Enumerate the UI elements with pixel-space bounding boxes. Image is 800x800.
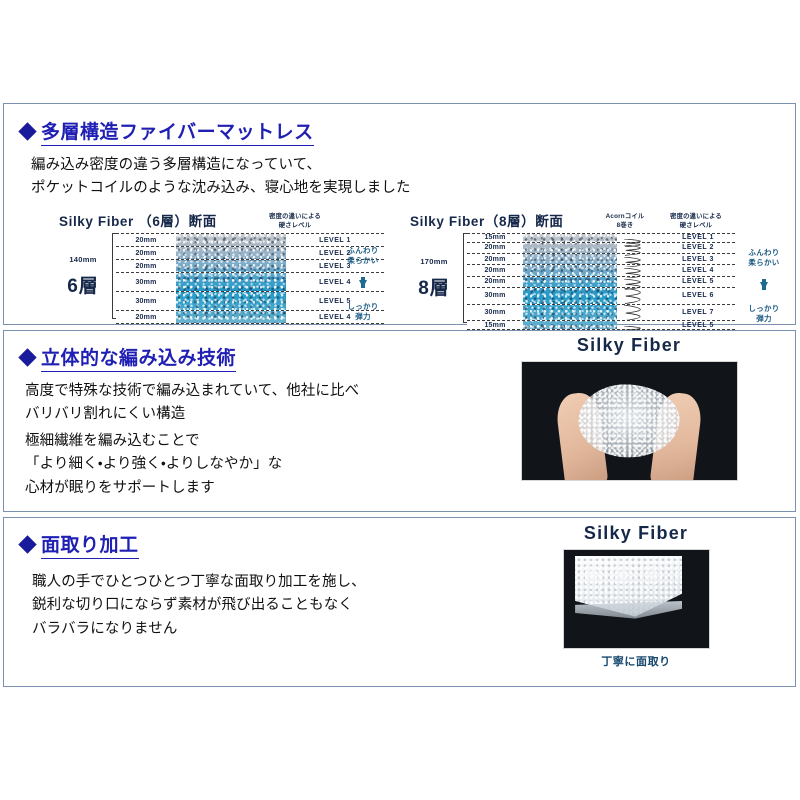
soft-firm-scale-eight: ふんわり 柔らかい しっかり 弾力 [741, 237, 787, 335]
layer-fiber-texture [176, 234, 286, 246]
layer-level-label: LEVEL 7 [661, 305, 735, 321]
layer-count-label-six: 6層 [57, 271, 109, 298]
total-thickness-six: 140mm 6層 [57, 255, 109, 298]
layer-level-label: LEVEL 3 [661, 254, 735, 264]
layer-row: 30mmLEVEL 7 [467, 305, 735, 322]
layer-fiber-texture [176, 247, 286, 259]
soft-label-six: ふんわり 柔らかい [340, 246, 386, 267]
layer-thickness-label: 30mm [467, 305, 523, 321]
layer-level-label: LEVEL 1 [661, 234, 735, 242]
layer-level-label: LEVEL 2 [661, 243, 735, 253]
photo-hands-holding-fiber [521, 361, 738, 481]
total-thickness-eight: 170mm 8層 [408, 257, 460, 300]
layer-fiber-texture [176, 260, 286, 272]
firm-label-six: しっかり 弾力 [340, 302, 386, 323]
layer-thickness-label: 30mm [116, 273, 176, 291]
total-mm-label-eight: 170mm [408, 257, 460, 266]
photo-caption-chamfer: 丁寧に面取り [501, 653, 771, 669]
total-mm-label-six: 140mm [57, 255, 109, 264]
layer-level-label: LEVEL 5 [661, 277, 735, 287]
section-body-multilayer: 編み込み密度の違う多層構造になっていて、 ポケットコイルのような沈み込み、寝心地… [31, 154, 411, 201]
layer-level-label: LEVEL 4 [661, 265, 735, 275]
section-panel-multilayer: 多層構造ファイバーマットレス 編み込み密度の違う多層構造になっていて、 ポケット… [3, 103, 796, 325]
layer-thickness-label: 30mm [467, 288, 523, 304]
layer-count-label-eight: 8層 [408, 273, 460, 300]
diamond-bullet-icon [18, 122, 36, 140]
layer-row: 15mmLEVEL 5 [467, 321, 735, 330]
section-heading-label: 多層構造ファイバーマットレス [41, 117, 314, 146]
layer-row: 20mmLEVEL 5 [467, 277, 735, 288]
layer-thickness-label: 15mm [467, 234, 523, 242]
layer-fiber-texture [523, 234, 617, 242]
layer-thickness-label: 20mm [116, 260, 176, 272]
column-header-density-six: 密度の違いによる 硬さレベル [257, 212, 333, 230]
layer-fiber-texture [176, 311, 286, 323]
down-arrow-icon [760, 282, 768, 290]
layer-fiber-texture [523, 305, 617, 321]
section-body-knitting-2: 極細繊維を編み込むことで 「より細く・より強く・よりしなやか」な 心材が眠りをサ… [25, 430, 282, 500]
column-header-density-eight: 密度の違いによる 硬さレベル [658, 212, 734, 230]
section-body-chamfer: 職人の手でひとつひとつ丁寧な面取り加工を施し、 鋭利な切り口にならず素材が飛び出… [32, 571, 366, 641]
layer-row: 20mmLEVEL 4 [467, 265, 735, 276]
diagram-title-six-layer: Silky Fiber （6層）断面 [59, 210, 387, 230]
soft-label-eight: ふんわり 柔らかい [741, 248, 787, 269]
layer-thickness-label: 20mm [467, 277, 523, 287]
layer-fiber-texture [523, 265, 617, 275]
layer-level-label: LEVEL 5 [661, 321, 735, 329]
section-heading-label: 面取り加工 [41, 530, 139, 559]
down-arrow-icon [359, 280, 367, 288]
layer-row: 20mmLEVEL 2 [467, 243, 735, 254]
layer-fiber-texture [523, 277, 617, 287]
layer-thickness-label: 30mm [116, 292, 176, 310]
layer-fiber-texture [176, 273, 286, 291]
layer-level-label: LEVEL 6 [661, 288, 735, 304]
coil-spring-segment [617, 321, 661, 329]
layer-fiber-texture [523, 254, 617, 264]
coil-spring-segment [617, 305, 661, 321]
diagram-six-layer: Silky Fiber （6層）断面 密度の違いによる 硬さレベル 140mm … [57, 210, 387, 317]
photo-block-chamfer: Silky Fiber 丁寧に面取り [501, 523, 771, 669]
coil-spring-segment [617, 288, 661, 304]
firm-label-eight: しっかり 弾力 [741, 304, 787, 325]
layer-stack-eight: 15mmLEVEL 120mmLEVEL 220mmLEVEL 320mmLEV… [467, 233, 735, 330]
coil-spring-segment [617, 243, 661, 253]
section-heading-multilayer: 多層構造ファイバーマットレス [21, 117, 314, 146]
coil-spring-segment [617, 277, 661, 287]
section-heading-label: 立体的な編み込み技術 [41, 343, 236, 372]
layer-fiber-texture [176, 292, 286, 310]
coil-spring-segment [617, 265, 661, 275]
diamond-bullet-icon [18, 348, 36, 366]
photo-title-knitting: Silky Fiber [479, 335, 779, 356]
section-panel-chamfer: 面取り加工 職人の手でひとつひとつ丁寧な面取り加工を施し、 鋭利な切り口にならず… [3, 517, 796, 687]
layer-row: 20mmLEVEL 3 [467, 254, 735, 265]
layer-thickness-label: 20mm [116, 247, 176, 259]
photo-block-knitting: Silky Fiber [479, 335, 779, 481]
diagram-eight-layer: Silky Fiber（8層）断面 Acornコイル 8巻き 密度の違いによる … [408, 210, 794, 321]
layer-fiber-texture [523, 243, 617, 253]
photo-chamfered-foam-corner [563, 549, 710, 649]
column-header-coil: Acornコイル 8巻き [594, 212, 656, 230]
layer-thickness-label: 15mm [467, 321, 523, 329]
coil-spring-segment [617, 234, 661, 242]
section-heading-chamfer: 面取り加工 [21, 530, 139, 559]
layer-thickness-label: 20mm [116, 234, 176, 246]
layer-row: 15mmLEVEL 1 [467, 233, 735, 243]
soft-firm-scale-six: ふんわり 柔らかい しっかり 弾力 [340, 235, 386, 333]
diamond-bullet-icon [18, 535, 36, 553]
section-heading-knitting: 立体的な編み込み技術 [21, 343, 236, 372]
layer-row: 30mmLEVEL 6 [467, 288, 735, 305]
layer-thickness-label: 20mm [467, 265, 523, 275]
layer-fiber-texture [523, 288, 617, 304]
photo-title-chamfer: Silky Fiber [501, 523, 771, 544]
layer-thickness-label: 20mm [467, 243, 523, 253]
coil-spring-segment [617, 254, 661, 264]
section-panel-knitting: 立体的な編み込み技術 高度で特殊な技術で編み込まれていて、他社に比べ バリバリ割… [3, 330, 796, 512]
infographic-page: 多層構造ファイバーマットレス 編み込み密度の違う多層構造になっていて、 ポケット… [0, 0, 800, 800]
layer-thickness-label: 20mm [467, 254, 523, 264]
layer-fiber-texture [523, 321, 617, 329]
layer-thickness-label: 20mm [116, 311, 176, 323]
section-body-knitting-1: 高度で特殊な技術で編み込まれていて、他社に比べ バリバリ割れにくい構造 [25, 380, 359, 427]
